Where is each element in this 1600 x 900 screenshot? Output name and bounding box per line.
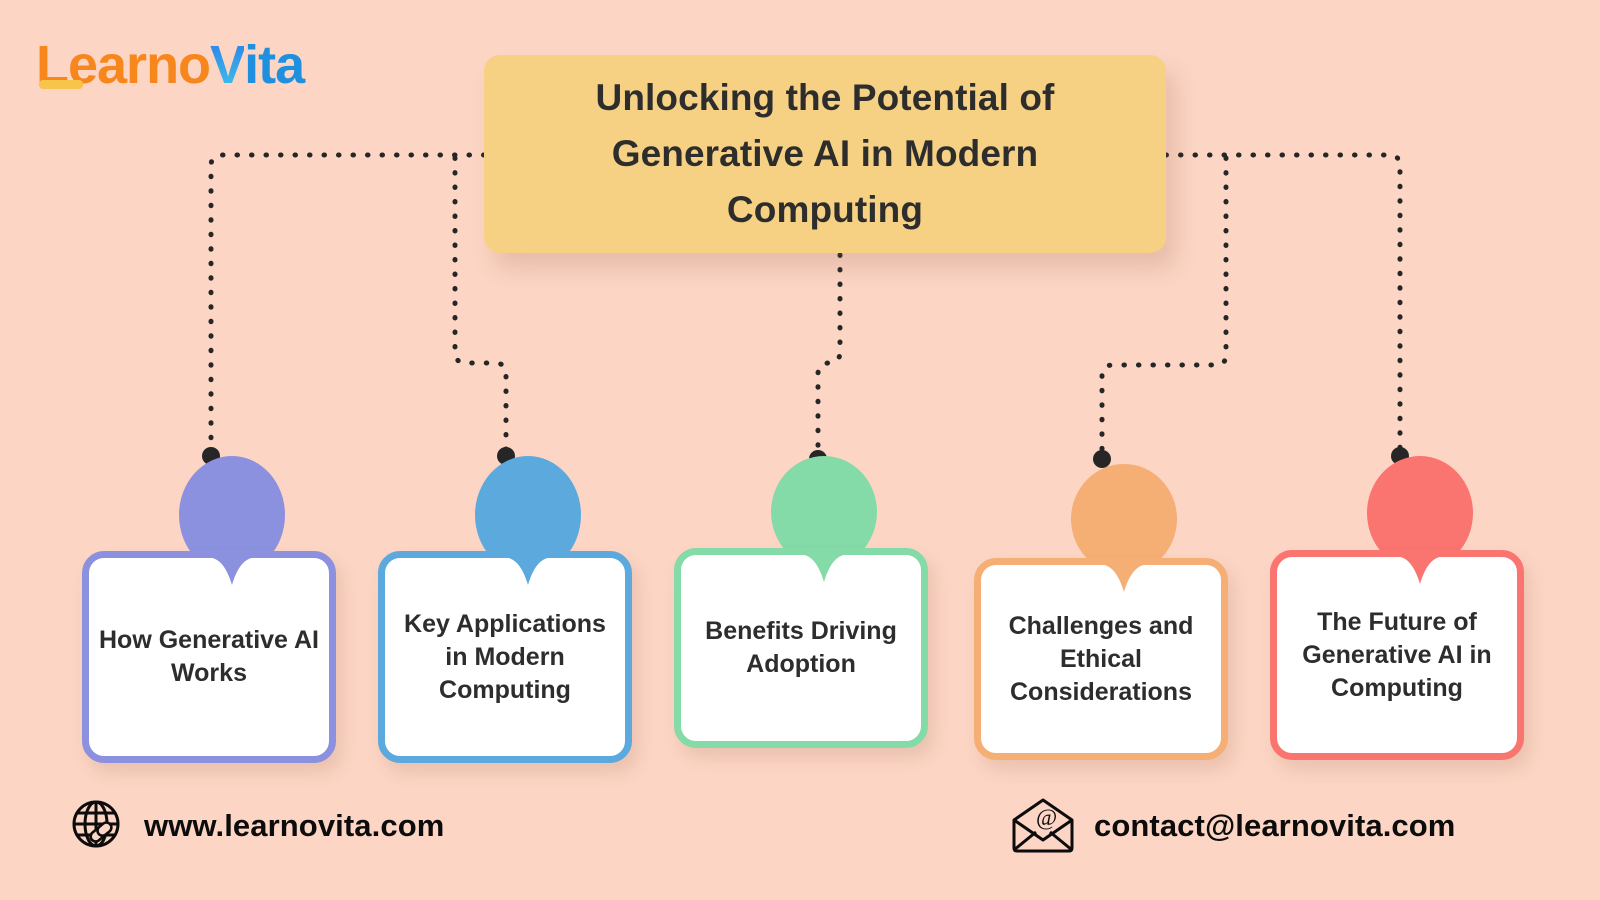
node-notch-2	[502, 551, 554, 591]
node-label-4: Challenges and Ethical Considerations	[991, 610, 1211, 709]
website-url[interactable]: www.learnovita.com	[144, 808, 444, 844]
footer-website[interactable]: www.learnovita.com	[70, 798, 444, 854]
node-notch-5	[1394, 550, 1446, 590]
node-label-2: Key Applications in Modern Computing	[395, 608, 615, 707]
infographic-canvas: LearnoVita Unlocking the Potential of Ge…	[0, 0, 1600, 900]
node-notch-1	[206, 551, 258, 591]
globe-link-icon	[70, 798, 126, 854]
envelope-at-icon: @	[1010, 798, 1076, 854]
learnovita-logo: LearnoVita	[36, 38, 304, 92]
logo-underline-accent	[39, 80, 83, 89]
main-title-card: Unlocking the Potential of Generative AI…	[484, 55, 1166, 253]
connector-path-3	[818, 255, 840, 452]
connector-path-1	[211, 155, 484, 452]
node-label-3: Benefits Driving Adoption	[691, 615, 911, 681]
node-notch-4	[1098, 558, 1150, 598]
node-label-1: How Generative AI Works	[99, 624, 319, 690]
footer-email[interactable]: @ contact@learnovita.com	[1010, 798, 1455, 854]
connector-path-5	[1166, 155, 1400, 452]
svg-text:@: @	[1036, 805, 1057, 830]
email-address[interactable]: contact@learnovita.com	[1094, 808, 1455, 844]
node-label-5: The Future of Generative AI in Computing	[1287, 606, 1507, 705]
node-notch-3	[798, 548, 850, 588]
logo-text-v: V	[210, 35, 244, 95]
logo-text-ita: ita	[244, 35, 304, 95]
page-title: Unlocking the Potential of Generative AI…	[526, 70, 1124, 239]
